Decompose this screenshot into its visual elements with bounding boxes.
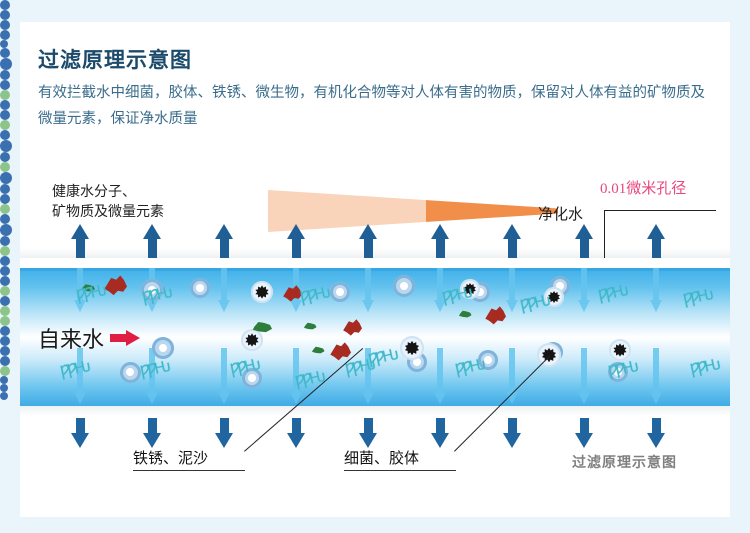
- particle-bact-14: [241, 329, 263, 351]
- up-arrow-4: [287, 224, 305, 258]
- label-purified-water: 净化水: [538, 203, 583, 224]
- particle-ring-12: [330, 282, 350, 302]
- water-molecule-dot-15: [0, 140, 12, 152]
- callout-rust: 铁锈、泥沙: [133, 447, 208, 468]
- water-molecule-dot-5: [0, 40, 8, 48]
- water-molecule-dot-25: [0, 246, 10, 256]
- water-flow-arrow-9-1: [650, 268, 662, 314]
- water-molecule-dot-29: [0, 286, 10, 296]
- label-healthy-line-2: 矿物质及微量元素: [52, 201, 164, 221]
- water-molecule-dot-28: [0, 276, 10, 286]
- water-molecule-dot-39: [0, 384, 8, 392]
- water-molecule-dot-34: [0, 336, 10, 346]
- water-molecule-dot-6: [0, 48, 10, 58]
- water-molecule-dot-13: [0, 120, 10, 130]
- water-molecule-dot-27: [0, 266, 10, 276]
- label-pore-size: 0.01微米孔径: [600, 177, 686, 198]
- down-arrow-1: [71, 418, 89, 448]
- label-healthy-molecules: 健康水分子、 矿物质及微量元素: [52, 181, 164, 221]
- down-arrow-6: [431, 418, 449, 448]
- up-arrow-7: [503, 224, 521, 258]
- water-molecule-dot-3: [0, 20, 10, 30]
- water-molecule-dot-18: [0, 172, 12, 184]
- up-arrow-3: [215, 224, 233, 258]
- up-arrow-6: [431, 224, 449, 258]
- water-flow-arrow-9-2: [650, 348, 662, 406]
- water-molecule-dot-7: [0, 58, 12, 70]
- label-healthy-line-1: 健康水分子、: [52, 181, 164, 201]
- diagram-caption: 过滤原理示意图: [572, 452, 677, 472]
- water-flow-arrow-7-1: [506, 268, 518, 314]
- callout-bacteria-underline: [344, 470, 456, 471]
- callout-bacteria: 细菌、胶体: [344, 447, 419, 468]
- band-bottom-shadow: [20, 406, 730, 416]
- pore-bracket-horizontal: [604, 210, 716, 211]
- down-arrow-2: [143, 418, 161, 448]
- water-molecule-dot-37: [0, 366, 10, 376]
- diagram-page: 过滤原理示意图 有效拦截水中细菌，胶体、铁锈、微生物，有机化合物等对人体有害的物…: [0, 0, 750, 533]
- water-flow-arrow-8-1: [578, 268, 590, 314]
- up-arrow-1: [71, 224, 89, 258]
- water-molecule-dot-20: [0, 194, 10, 204]
- water-molecule-dot-24: [0, 236, 10, 246]
- page-title: 过滤原理示意图: [38, 44, 192, 74]
- callout-rust-underline: [133, 470, 245, 471]
- particle-ring-15: [120, 362, 141, 383]
- down-arrow-3: [215, 418, 233, 448]
- particle-ring-3: [152, 337, 174, 359]
- water-molecule-dot-19: [0, 184, 10, 194]
- page-subtitle: 有效拦截水中细菌，胶体、铁锈、微生物，有机化合物等对人体有害的物质，保留对人体有…: [38, 80, 710, 132]
- water-molecule-dot-35: [0, 346, 10, 356]
- water-molecule-dot-9: [0, 80, 10, 90]
- up-arrow-2: [143, 224, 161, 258]
- water-molecule-dot-8: [0, 70, 10, 80]
- water-molecule-dot-36: [0, 356, 10, 366]
- particle-ring-2: [190, 278, 210, 298]
- water-flow-arrow-5-1: [362, 268, 374, 314]
- water-molecule-dot-10: [0, 90, 10, 100]
- water-band-top-edge: [20, 268, 730, 271]
- down-arrow-9: [647, 418, 665, 448]
- water-molecule-dot-31: [0, 306, 10, 316]
- down-arrow-7: [503, 418, 521, 448]
- particle-bact-13: [251, 281, 273, 303]
- water-molecule-dot-30: [0, 296, 10, 306]
- water-molecule-dot-17: [0, 162, 10, 172]
- water-molecule-dot-2: [0, 10, 10, 20]
- down-arrow-8: [575, 418, 593, 448]
- water-molecule-dot-26: [0, 256, 10, 266]
- water-flow-arrow-3-1: [218, 268, 230, 314]
- water-molecule-dot-40: [0, 392, 8, 400]
- down-arrow-5: [359, 418, 377, 448]
- up-arrow-8: [575, 224, 593, 258]
- water-molecule-dot-12: [0, 110, 10, 120]
- water-molecule-dot-4: [0, 30, 10, 40]
- tap-water-arrow-icon: [110, 330, 140, 346]
- label-tap-water: 自来水: [38, 322, 104, 354]
- water-molecule-dot-32: [0, 316, 10, 326]
- down-arrow-4: [287, 418, 305, 448]
- water-molecule-dot-33: [0, 326, 10, 336]
- water-molecule-dot-16: [0, 152, 10, 162]
- water-flow-arrow-8-2: [578, 348, 590, 406]
- up-arrow-9: [647, 224, 665, 258]
- particle-bact-16: [400, 336, 424, 360]
- water-molecule-dot-14: [0, 130, 10, 140]
- pore-bracket-vertical: [604, 210, 605, 258]
- water-molecule-dot-11: [0, 100, 10, 110]
- water-flow-arrow-6-2: [434, 348, 446, 406]
- particle-ring-5: [393, 275, 415, 297]
- water-molecule-dot-38: [0, 376, 8, 384]
- water-molecule-dot-23: [0, 224, 12, 236]
- water-molecule-dot-22: [0, 214, 10, 224]
- water-molecule-dot-21: [0, 204, 10, 214]
- water-molecule-dot-1: [0, 0, 10, 10]
- up-arrow-5: [359, 224, 377, 258]
- water-flow-arrow-3-2: [218, 348, 230, 406]
